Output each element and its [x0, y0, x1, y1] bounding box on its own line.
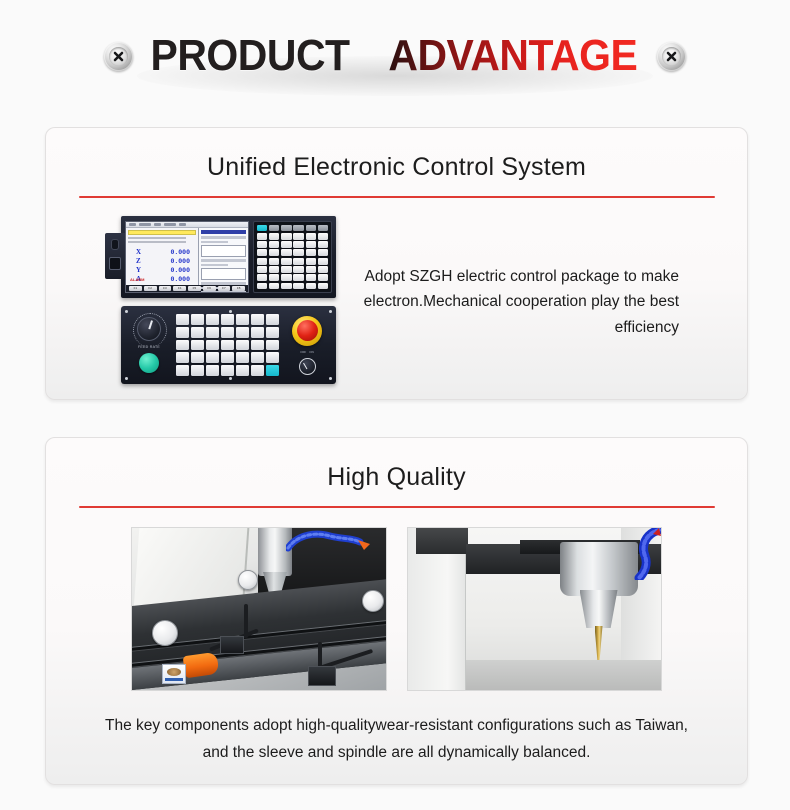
cnc-key[interactable]: [306, 266, 317, 273]
cnc-key[interactable]: [281, 249, 292, 256]
operator-key[interactable]: [221, 327, 234, 338]
operator-key[interactable]: [191, 365, 204, 376]
operator-key[interactable]: [251, 352, 264, 363]
photo-b-coolant-hose-icon: [615, 528, 661, 580]
photo-b-tool-holder: [482, 572, 502, 632]
photo-cnc-tool-changer-carousel: [407, 527, 663, 691]
page-header-banner: PRODUCT ADVANTAGE: [0, 0, 790, 112]
cnc-key[interactable]: [318, 266, 329, 273]
operator-key[interactable]: [221, 365, 234, 376]
operator-key[interactable]: [206, 314, 219, 325]
card-description-high-quality: The key components adopt high-qualitywea…: [46, 691, 747, 766]
cnc-keypad[interactable]: [253, 221, 332, 293]
cnc-axis-value: 0.000: [170, 267, 190, 274]
quality-photo-row: [46, 508, 747, 691]
operator-key[interactable]: [266, 327, 279, 338]
panel-screw-icon: [229, 310, 232, 313]
cnc-key[interactable]: [281, 266, 292, 273]
cnc-key[interactable]: [257, 274, 268, 281]
cnc-key[interactable]: [306, 241, 317, 248]
operator-key[interactable]: [236, 327, 249, 338]
cnc-fkey[interactable]: F5: [188, 286, 201, 291]
operator-key[interactable]: [236, 365, 249, 376]
cnc-fkey[interactable]: F3: [159, 286, 172, 291]
panel-screw-icon: [329, 310, 332, 313]
cnc-fkey[interactable]: F7: [218, 286, 231, 291]
page-title: PRODUCT ADVANTAGE: [137, 34, 653, 78]
cnc-key[interactable]: [257, 266, 268, 273]
cnc-key[interactable]: [306, 225, 317, 232]
photo-a-label-bar: [165, 678, 183, 681]
cnc-key[interactable]: [269, 233, 280, 240]
cnc-key[interactable]: [318, 233, 329, 240]
operator-key[interactable]: [236, 352, 249, 363]
cnc-key[interactable]: [318, 225, 329, 232]
operator-key[interactable]: [176, 352, 189, 363]
card-title-high-quality: High Quality: [46, 438, 747, 492]
cnc-operator-panel: FEED RATE OFF ON: [121, 306, 336, 384]
photo-b-floor: [466, 660, 663, 690]
photo-a-indicator-post: [244, 604, 248, 638]
cnc-key[interactable]: [293, 241, 304, 248]
cnc-key[interactable]: [318, 249, 329, 256]
cnc-key[interactable]: [257, 283, 268, 290]
operator-key[interactable]: [221, 314, 234, 325]
operator-key[interactable]: [191, 340, 204, 351]
cnc-key[interactable]: [293, 249, 304, 256]
cnc-screen-main: X 0.000 Z 0.000 Y 0.000: [126, 228, 248, 285]
cnc-key[interactable]: [269, 258, 280, 265]
cnc-screen: X 0.000 Z 0.000 Y 0.000: [125, 221, 249, 293]
key-switch-label-on: ON: [309, 350, 314, 354]
photo-cnc-machine-table-with-dial-indicators: [131, 527, 387, 691]
photo-a-label-seal-icon: [167, 668, 181, 676]
cnc-axis-value: 0.000: [170, 258, 190, 265]
cnc-screen-active-line-highlight: [128, 230, 196, 235]
photo-a-magnetic-base: [220, 636, 244, 654]
photo-a-dial-indicator: [152, 620, 178, 646]
screw-cross-icon-left-inner: [109, 47, 128, 66]
knob-tick-marks-icon: [133, 313, 167, 347]
cnc-key[interactable]: [293, 266, 304, 273]
cnc-fkey[interactable]: F4: [173, 286, 186, 291]
page-title-word-advantage: ADVANTAGE: [389, 34, 638, 78]
photo-b-upper-shadow: [416, 528, 468, 554]
cnc-fkey[interactable]: F1: [129, 286, 142, 291]
cnc-key[interactable]: [257, 249, 268, 256]
cnc-side-connector-block: [105, 233, 125, 279]
operator-key[interactable]: [176, 314, 189, 325]
operator-key[interactable]: [206, 340, 219, 351]
cnc-key[interactable]: [281, 258, 292, 265]
cnc-key[interactable]: [293, 283, 304, 290]
cnc-key[interactable]: [257, 225, 268, 232]
photo-a-coolant-hose-icon: [286, 530, 372, 556]
cycle-start-button[interactable]: [139, 353, 159, 373]
cnc-key[interactable]: [269, 249, 280, 256]
cnc-key[interactable]: [306, 283, 317, 290]
cnc-key[interactable]: [318, 241, 329, 248]
cnc-key[interactable]: [257, 241, 268, 248]
cnc-key[interactable]: [281, 225, 292, 232]
photo-a-dial-indicator: [238, 570, 258, 590]
panel-screw-icon: [329, 377, 332, 380]
operator-key[interactable]: [206, 352, 219, 363]
cnc-key[interactable]: [269, 225, 280, 232]
card-high-quality: High Quality: [45, 437, 748, 785]
cnc-axis-label: X: [136, 249, 141, 256]
cnc-display-unit: X 0.000 Z 0.000 Y 0.000: [121, 216, 336, 298]
operator-key[interactable]: [191, 314, 204, 325]
cnc-operator-keypad[interactable]: [176, 314, 279, 376]
operator-key[interactable]: [251, 327, 264, 338]
cnc-key[interactable]: [318, 274, 329, 281]
feed-rate-knob[interactable]: [137, 317, 161, 341]
cnc-key[interactable]: [293, 258, 304, 265]
cnc-fkey[interactable]: F8: [232, 286, 245, 291]
cnc-screen-status-pane: [198, 228, 248, 285]
page-title-word-product: PRODUCT: [151, 34, 350, 78]
cnc-key[interactable]: [293, 274, 304, 281]
operator-key[interactable]: [221, 352, 234, 363]
cnc-port-icon-usb: [111, 239, 119, 250]
panel-screw-icon: [125, 377, 128, 380]
banner-title-group: PRODUCT ADVANTAGE: [104, 34, 686, 78]
operator-key[interactable]: [176, 327, 189, 338]
operator-key[interactable]: [266, 365, 279, 376]
cnc-axis-value: 0.000: [170, 249, 190, 256]
panel-screw-icon: [125, 310, 128, 313]
panel-screw-icon: [229, 377, 232, 380]
photo-a-dial-indicator: [362, 590, 384, 612]
photo-a-magnetic-base: [308, 666, 336, 686]
cnc-key[interactable]: [281, 274, 292, 281]
cnc-key[interactable]: [318, 258, 329, 265]
screw-cross-icon-left: [104, 42, 133, 71]
cnc-key[interactable]: [257, 233, 268, 240]
cnc-controller-illustration: X 0.000 Z 0.000 Y 0.000: [121, 216, 336, 384]
photo-b-tool-holder: [636, 572, 654, 644]
photo-a-product-label: [162, 664, 186, 684]
operator-key[interactable]: [266, 340, 279, 351]
cnc-port-icon-serial: [109, 257, 121, 270]
emergency-stop-button[interactable]: [292, 316, 322, 346]
cnc-screen-alarm-text: ALARM: [130, 277, 144, 282]
cnc-key[interactable]: [257, 258, 268, 265]
operator-key[interactable]: [251, 314, 264, 325]
operator-key[interactable]: [206, 365, 219, 376]
screw-cross-icon-right-inner: [662, 47, 681, 66]
cnc-panel-left-controls: FEED RATE: [129, 317, 169, 373]
cnc-key[interactable]: [269, 274, 280, 281]
key-switch-labels: OFF ON: [300, 350, 314, 354]
cnc-screen-position-pane: X 0.000 Z 0.000 Y 0.000: [126, 228, 198, 285]
card-body-control-system: X 0.000 Z 0.000 Y 0.000: [46, 198, 747, 384]
cnc-key[interactable]: [306, 233, 317, 240]
cnc-axis-label: Y: [136, 267, 141, 274]
cnc-fkey[interactable]: F2: [144, 286, 157, 291]
cnc-axis-row: Z 0.000: [128, 258, 196, 265]
cnc-key[interactable]: [306, 258, 317, 265]
cnc-axis-label: Z: [136, 258, 141, 265]
cnc-key[interactable]: [293, 225, 304, 232]
cnc-key[interactable]: [269, 266, 280, 273]
cnc-axis-value: 0.000: [170, 276, 190, 283]
card-description-control-system: Adopt SZGH electric control package to m…: [356, 260, 713, 339]
operator-key[interactable]: [236, 314, 249, 325]
cnc-key[interactable]: [269, 241, 280, 248]
operator-key[interactable]: [236, 340, 249, 351]
operator-key[interactable]: [221, 340, 234, 351]
photo-b-tool-holder: [656, 572, 663, 650]
cnc-key[interactable]: [306, 249, 317, 256]
operator-key[interactable]: [176, 365, 189, 376]
operator-key[interactable]: [206, 327, 219, 338]
operator-key[interactable]: [266, 314, 279, 325]
operator-key[interactable]: [251, 340, 264, 351]
cnc-key[interactable]: [269, 283, 280, 290]
cnc-key[interactable]: [306, 274, 317, 281]
card-unified-electronic-control-system: Unified Electronic Control System: [45, 127, 748, 400]
emergency-stop-cap-icon: [297, 320, 318, 341]
key-switch-label-off: OFF: [300, 350, 306, 354]
cnc-key[interactable]: [281, 233, 292, 240]
cnc-axis-row: X 0.000: [128, 249, 196, 256]
key-switch[interactable]: [299, 358, 316, 375]
cnc-panel-right-controls: OFF ON: [286, 316, 328, 375]
operator-key[interactable]: [191, 327, 204, 338]
operator-key[interactable]: [191, 352, 204, 363]
cnc-key[interactable]: [281, 241, 292, 248]
cnc-key[interactable]: [293, 233, 304, 240]
operator-key[interactable]: [251, 365, 264, 376]
operator-key[interactable]: [176, 340, 189, 351]
operator-key[interactable]: [266, 352, 279, 363]
cnc-key[interactable]: [318, 283, 329, 290]
card-title-control-system: Unified Electronic Control System: [46, 128, 747, 182]
cnc-fkey[interactable]: F6: [203, 286, 216, 291]
cnc-axis-row: Y 0.000: [128, 267, 196, 274]
cnc-key[interactable]: [281, 283, 292, 290]
screw-cross-icon-right: [657, 42, 686, 71]
